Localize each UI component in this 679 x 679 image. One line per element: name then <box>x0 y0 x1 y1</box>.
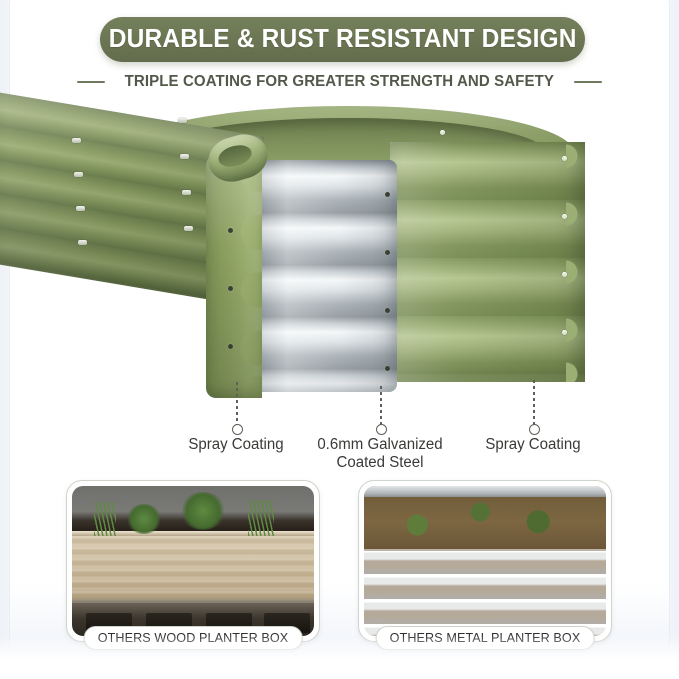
panel-scalloped-edge-right <box>566 142 592 382</box>
wall-bolt-icon <box>184 226 193 231</box>
spray-coating-peeled-flap <box>206 152 262 398</box>
panel-rivet-icon <box>562 214 567 219</box>
callout-leader-right <box>533 380 535 426</box>
herb-rosemary-icon <box>248 500 274 536</box>
panel-rivet-icon <box>440 130 445 135</box>
wall-bolt-icon <box>178 118 187 123</box>
wall-bolt-icon <box>182 190 191 195</box>
comparison-panel-metal: OTHERS METAL PLANTER BOX <box>358 480 612 642</box>
page-subtitle: TRIPLE COATING FOR GREATER STRENGTH AND … <box>125 73 554 91</box>
wall-bolt-icon <box>76 206 85 211</box>
core-rivet-icon <box>385 308 390 313</box>
core-rivet-icon <box>385 250 390 255</box>
infographic-page: DURABLE & RUST RESISTANT DESIGN TRIPLE C… <box>0 0 679 679</box>
herb-basil-icon <box>180 492 226 530</box>
metal-planter-photo <box>364 486 606 636</box>
subtitle-dash-right-icon <box>574 81 602 83</box>
wall-bolt-icon <box>72 138 81 143</box>
callout-label-right: Spray Coating <box>455 436 610 454</box>
galvanized-steel-core <box>253 160 397 392</box>
callout-dot-left <box>232 424 243 435</box>
comparison-panel-wood: OTHERS WOOD PLANTER BOX <box>66 480 320 642</box>
wall-bolt-icon <box>74 172 83 177</box>
callout-label-center: 0.6mm Galvanized Coated Steel <box>293 436 468 471</box>
herb-rosemary-icon <box>94 502 116 536</box>
panel-rivet-icon <box>562 330 567 335</box>
callout-dot-center <box>376 424 387 435</box>
core-rivet-icon <box>385 366 390 371</box>
page-title: DURABLE & RUST RESISTANT DESIGN <box>109 25 577 54</box>
metal-rust-ribs <box>364 549 606 636</box>
core-rivet-icon <box>385 192 390 197</box>
callout-leader-center <box>380 386 382 426</box>
hero-illustration <box>0 100 679 400</box>
spray-coating-panel-right <box>390 142 585 382</box>
herb-basil-icon <box>126 504 162 534</box>
bottom-fade <box>0 635 679 679</box>
flap-rivet-icon <box>228 286 233 291</box>
flap-rivet-icon <box>228 228 233 233</box>
callout-dot-right <box>529 424 540 435</box>
subtitle-dash-left-icon <box>77 81 105 83</box>
wood-planter-photo <box>72 486 314 636</box>
wall-bolt-icon <box>180 154 189 159</box>
callout-leader-left <box>236 382 238 426</box>
header-subtitle-row: TRIPLE COATING FOR GREATER STRENGTH AND … <box>0 70 679 94</box>
panel-rivet-icon <box>562 156 567 161</box>
flap-rivet-icon <box>228 344 233 349</box>
wood-grain-texture <box>72 536 314 604</box>
metal-top-rail <box>364 486 606 497</box>
callout-label-left: Spray Coating <box>158 436 313 454</box>
panel-rivet-icon <box>562 272 567 277</box>
header-title-banner: DURABLE & RUST RESISTANT DESIGN <box>100 17 585 62</box>
wall-bolt-icon <box>78 240 87 245</box>
